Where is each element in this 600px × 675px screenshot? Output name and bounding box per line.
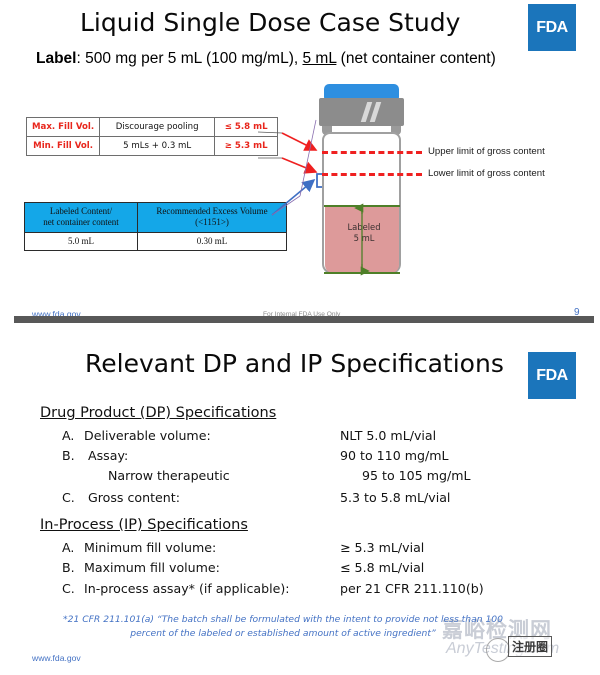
slide-liquid-single-dose-case-study: FDA Liquid Single Dose Case Study Label:… [0, 0, 600, 322]
cell-min-fill-value: ≥ 5.3 mL [215, 137, 278, 156]
dp-row-letter-a: A. [62, 428, 74, 443]
cell-min-fill-desc: 5 mLs + 0.3 mL [100, 137, 215, 156]
header-labeled-content: Labeled Content/ net container content [25, 203, 138, 233]
header-labeled-content-line1: Labeled Content/ [50, 206, 112, 216]
slide-divider [14, 316, 594, 323]
ip-row-letter-b: B. [62, 560, 75, 575]
dp-specifications-heading: Drug Product (DP) Specifications [40, 405, 276, 421]
cell-max-fill-value: ≤ 5.8 mL [215, 118, 278, 137]
cfr-footnote-line1: *21 CFR 211.101(a) “The batch shall be f… [63, 614, 503, 625]
label-statement-underlined: 5 mL [302, 50, 336, 67]
table-row: 5.0 mL 0.30 mL [25, 232, 287, 250]
dp-row-letter-b: B. [62, 448, 75, 463]
dp-row-value-assay: 90 to 110 mg/mL [340, 448, 449, 463]
dp-row-value-narrow-therapeutic: 95 to 105 mg/mL [362, 468, 471, 483]
ip-row-label-minimum-fill-volume: Minimum fill volume: [84, 540, 216, 555]
vial-diagram: Upper limit of gross content Lower limit… [300, 84, 600, 284]
cell-min-fill-label: Min. Fill Vol. [27, 137, 100, 156]
ip-row-value-in-process-assay: per 21 CFR 211.110(b) [340, 581, 484, 596]
dp-row-value-deliverable-volume: NLT 5.0 mL/vial [340, 428, 436, 443]
cfr-footnote: *21 CFR 211.101(a) “The batch shall be f… [58, 613, 508, 642]
ip-row-value-maximum-fill-volume: ≤ 5.8 mL/vial [340, 560, 424, 575]
fill-volume-table: Max. Fill Vol. Discourage pooling ≤ 5.8 … [26, 117, 278, 156]
ip-row-letter-a: A. [62, 540, 74, 555]
ip-row-letter-c: C. [62, 581, 75, 596]
ip-row-label-in-process-assay: In-process assay* (if applicable): [84, 581, 290, 596]
page-title: Liquid Single Dose Case Study [80, 8, 460, 37]
dp-row-value-gross-content: 5.3 to 5.8 mL/vial [340, 490, 450, 505]
header-labeled-content-line2: net container content [43, 217, 118, 227]
cell-labeled-content-value: 5.0 mL [25, 232, 138, 250]
page-title: Relevant DP and IP Specifications [85, 349, 504, 378]
label-statement-part-b: (net container content) [336, 50, 495, 67]
label-statement-part-a: : 500 mg per 5 mL (100 mg/mL), [76, 50, 302, 67]
table-row: Max. Fill Vol. Discourage pooling ≤ 5.8 … [27, 118, 278, 137]
footer-url[interactable]: www.fda.gov [32, 653, 81, 663]
dp-row-letter-c: C. [62, 490, 75, 505]
labeled-volume-arrow-icon [300, 84, 600, 284]
cell-recommended-excess-value: 0.30 mL [138, 232, 287, 250]
table-row: Min. Fill Vol. 5 mLs + 0.3 mL ≥ 5.3 mL [27, 137, 278, 156]
header-recommended-excess-line2: (<1151>) [195, 217, 229, 227]
cell-max-fill-desc: Discourage pooling [100, 118, 215, 137]
table-header-row: Labeled Content/ net container content R… [25, 203, 287, 233]
cell-max-fill-label: Max. Fill Vol. [27, 118, 100, 137]
fda-logo-icon: FDA [528, 352, 576, 399]
label-statement: Label: 500 mg per 5 mL (100 mg/mL), 5 mL… [36, 50, 496, 68]
cfr-footnote-line2: percent of the labeled or established am… [130, 628, 436, 639]
fda-logo-icon: FDA [528, 4, 576, 51]
label-statement-prefix: Label [36, 50, 76, 67]
header-recommended-excess-line1: Recommended Excess Volume [156, 206, 267, 216]
header-recommended-excess: Recommended Excess Volume (<1151>) [138, 203, 287, 233]
ip-row-label-maximum-fill-volume: Maximum fill volume: [84, 560, 220, 575]
ip-specifications-heading: In-Process (IP) Specifications [40, 517, 248, 533]
ip-row-value-minimum-fill-volume: ≥ 5.3 mL/vial [340, 540, 424, 555]
dp-row-label-deliverable-volume: Deliverable volume: [84, 428, 211, 443]
dp-row-label-gross-content: Gross content: [88, 490, 180, 505]
excess-volume-table: Labeled Content/ net container content R… [24, 202, 287, 251]
dp-row-label-narrow-therapeutic: Narrow therapeutic [108, 468, 230, 483]
dp-row-label-assay: Assay: [88, 448, 128, 463]
